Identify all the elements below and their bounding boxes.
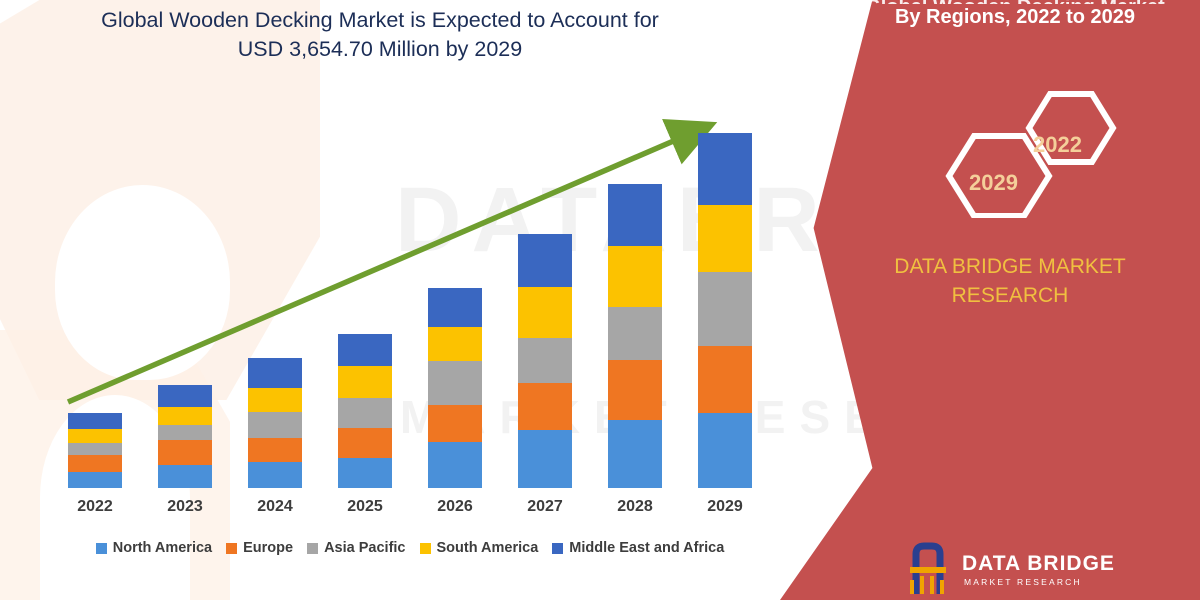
legend-swatch-icon <box>552 543 563 554</box>
bar-segment[interactable] <box>68 429 122 443</box>
panel-title-main: By Regions, 2022 to 2029 <box>895 6 1135 28</box>
bar-segment[interactable] <box>248 358 302 388</box>
logo-tagline: MARKET RESEARCH <box>964 577 1082 587</box>
legend-item[interactable]: Asia Pacific <box>307 540 405 556</box>
x-axis-label-2029: 2029 <box>680 498 770 516</box>
bar-segment[interactable] <box>608 307 662 360</box>
legend-item[interactable]: Middle East and Africa <box>552 540 724 556</box>
stacked-bar-2029[interactable] <box>698 133 752 488</box>
stacked-bar-2026[interactable] <box>428 288 482 488</box>
bar-segment[interactable] <box>518 430 572 488</box>
x-axis-label-2022: 2022 <box>50 498 140 516</box>
bar-segment[interactable] <box>338 398 392 428</box>
bar-segment[interactable] <box>68 443 122 455</box>
bar-segment[interactable] <box>338 458 392 488</box>
page-title-line1: Global Wooden Decking Market is Expected… <box>40 6 720 35</box>
bar-segment[interactable] <box>698 133 752 205</box>
legend-item[interactable]: Europe <box>226 540 293 556</box>
company-logo: DATA BRIDGE MARKET RESEARCH <box>902 536 1152 600</box>
hexagon-label-2022: 2022 <box>1033 132 1082 158</box>
bar-segment[interactable] <box>338 334 392 366</box>
bar-segment[interactable] <box>428 327 482 361</box>
x-axis-label-2026: 2026 <box>410 498 500 516</box>
stacked-bar-2023[interactable] <box>158 385 212 488</box>
bar-segment[interactable] <box>158 385 212 407</box>
logo-name: DATA BRIDGE <box>962 552 1115 576</box>
bar-segment[interactable] <box>698 272 752 345</box>
stacked-bar-2025[interactable] <box>338 334 392 488</box>
bar-segment[interactable] <box>428 288 482 327</box>
legend-swatch-icon <box>226 543 237 554</box>
panel-brand: DATA BRIDGE MARKET RESEARCH <box>840 252 1180 310</box>
x-axis-label-2028: 2028 <box>590 498 680 516</box>
legend-swatch-icon <box>96 543 107 554</box>
bar-segment[interactable] <box>518 338 572 383</box>
legend-item[interactable]: South America <box>420 540 539 556</box>
legend-label: Europe <box>243 540 293 556</box>
bar-segment[interactable] <box>248 412 302 438</box>
bar-segment[interactable] <box>428 361 482 405</box>
legend-item[interactable]: North America <box>96 540 212 556</box>
x-axis-label-2027: 2027 <box>500 498 590 516</box>
legend-label: South America <box>437 540 539 556</box>
bar-segment[interactable] <box>248 388 302 412</box>
bar-group <box>500 234 590 488</box>
bar-segment[interactable] <box>248 438 302 462</box>
bar-chart-plot-area <box>50 100 770 488</box>
page-title: Global Wooden Decking Market is Expected… <box>40 6 720 64</box>
bar-group <box>320 334 410 488</box>
bar-segment[interactable] <box>248 462 302 488</box>
bar-segment[interactable] <box>68 455 122 472</box>
bar-group <box>590 184 680 488</box>
x-axis-label-2025: 2025 <box>320 498 410 516</box>
legend-label: Middle East and Africa <box>569 540 724 556</box>
bar-segment[interactable] <box>428 442 482 488</box>
panel-brand-line2: RESEARCH <box>840 281 1180 310</box>
legend-swatch-icon <box>307 543 318 554</box>
hexagon-label-2029: 2029 <box>969 170 1018 196</box>
bar-segment[interactable] <box>518 287 572 338</box>
x-axis-ticks: 20222023202420252026202720282029 <box>50 498 770 516</box>
stacked-bar-2028[interactable] <box>608 184 662 488</box>
bar-segment[interactable] <box>338 428 392 458</box>
bar-segment[interactable] <box>608 420 662 488</box>
hexagon-badges: 2022 2029 <box>932 88 1122 218</box>
right-panel-content: Global Wooden Decking Market By Regions,… <box>780 0 1200 600</box>
legend-label: Asia Pacific <box>324 540 405 556</box>
page-title-line2: USD 3,654.70 Million by 2029 <box>40 35 720 64</box>
bar-segment[interactable] <box>518 383 572 430</box>
bar-segment[interactable] <box>518 234 572 286</box>
bar-segment[interactable] <box>68 472 122 488</box>
bar-segment[interactable] <box>68 413 122 429</box>
bar-group <box>230 358 320 488</box>
panel-brand-line1: DATA BRIDGE MARKET <box>840 252 1180 281</box>
bar-group <box>50 413 140 488</box>
legend-swatch-icon <box>420 543 431 554</box>
legend-label: North America <box>113 540 212 556</box>
panel-title: Global Wooden Decking Market By Regions,… <box>850 0 1180 31</box>
hexagon-outline-icons <box>932 88 1122 218</box>
bar-segment[interactable] <box>428 405 482 442</box>
stacked-bar-2022[interactable] <box>68 413 122 488</box>
stacked-bar-2024[interactable] <box>248 358 302 488</box>
bar-segment[interactable] <box>698 346 752 413</box>
x-axis-label-2024: 2024 <box>230 498 320 516</box>
bar-segment[interactable] <box>158 440 212 465</box>
bar-segment[interactable] <box>698 205 752 272</box>
panel-title-clipped: Global Wooden Decking Market <box>850 0 1180 4</box>
bar-segment[interactable] <box>338 366 392 398</box>
infographic-canvas: DATABRIDGE MARKET RESEARCH Global Wooden… <box>0 0 1200 600</box>
bar-segment[interactable] <box>158 407 212 425</box>
bar-group <box>680 133 770 488</box>
chart-legend: North AmericaEuropeAsia PacificSouth Ame… <box>40 540 780 556</box>
bar-segment[interactable] <box>608 246 662 306</box>
x-axis-label-2023: 2023 <box>140 498 230 516</box>
bar-group <box>410 288 500 488</box>
bar-segment[interactable] <box>608 360 662 420</box>
bar-segment[interactable] <box>698 413 752 488</box>
bar-segment[interactable] <box>608 184 662 246</box>
stacked-bar-2027[interactable] <box>518 234 572 488</box>
bar-group <box>140 385 230 488</box>
bar-segment[interactable] <box>158 465 212 488</box>
bar-segment[interactable] <box>158 425 212 440</box>
